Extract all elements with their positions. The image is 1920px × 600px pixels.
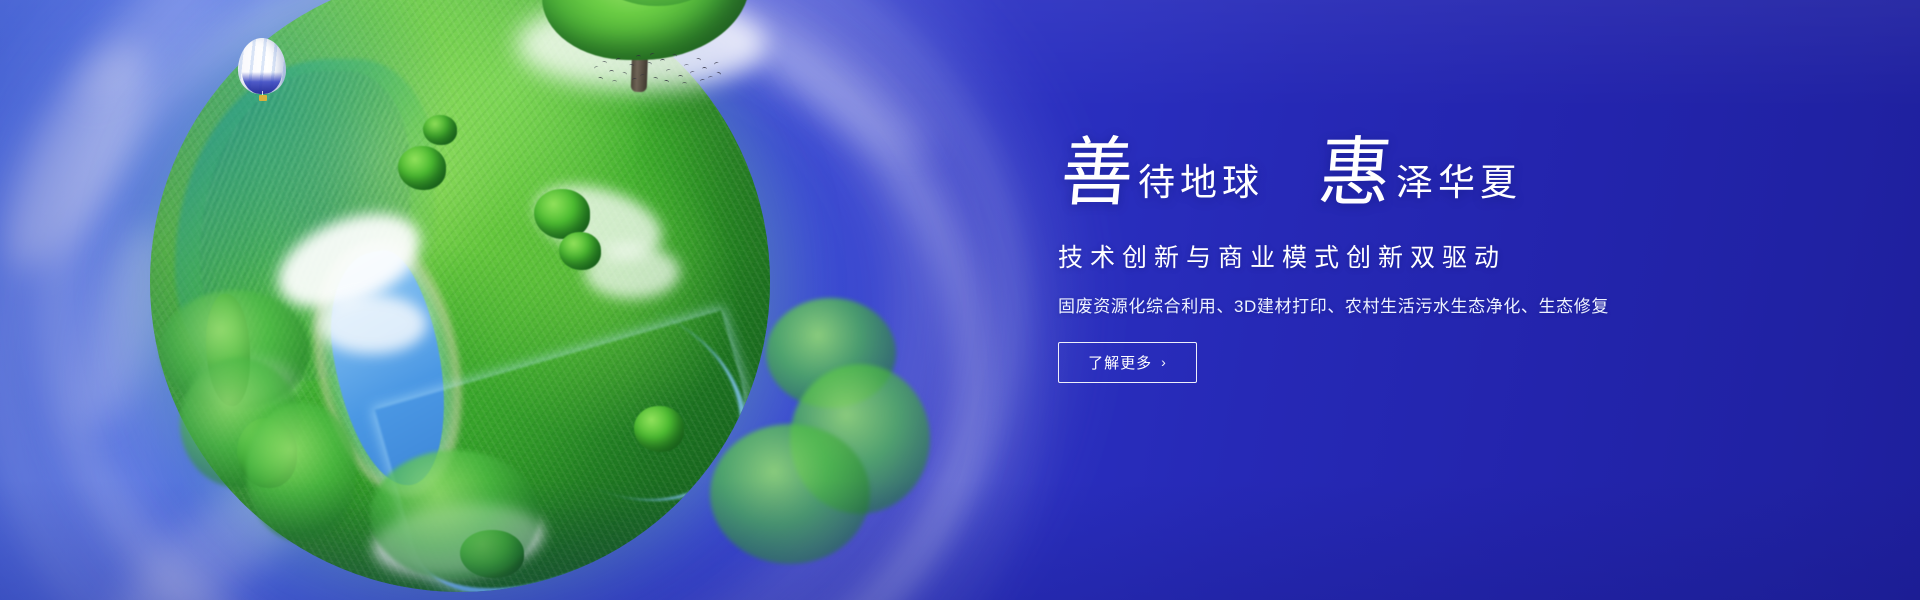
bird-icon	[666, 68, 672, 73]
bird-icon	[700, 78, 706, 83]
bird-icon	[653, 77, 659, 82]
hero-subtitle: 技术创新与商业模式创新双驱动	[1058, 238, 1818, 274]
tree-clump-2	[423, 115, 457, 145]
hero-banner: 善 待地球 惠 泽华夏 技术创新与商业模式创新双驱动 固废资源化综合利用、3D建…	[0, 0, 1920, 600]
bird-icon	[632, 78, 638, 83]
bird-icon	[702, 67, 707, 71]
hero-copy-block: 善 待地球 惠 泽华夏 技术创新与商业模式创新双驱动 固废资源化综合利用、3D建…	[1058, 138, 1818, 383]
rim-tree-7	[370, 450, 540, 580]
learn-more-button[interactable]: 了解更多 ›	[1058, 342, 1197, 383]
bird-icon	[593, 65, 599, 71]
bird-icon	[660, 59, 665, 63]
headline-rest-zehuaxia: 泽华夏	[1396, 164, 1522, 201]
bird-icon	[636, 55, 641, 59]
bird-icon	[621, 71, 627, 77]
bird-icon	[649, 52, 655, 58]
bird-icon	[609, 70, 614, 74]
headline-char-shan: 善	[1058, 134, 1137, 210]
bird-flock-icon	[592, 52, 722, 88]
chevron-right-icon: ›	[1161, 355, 1167, 369]
tree-clump-7	[634, 406, 684, 452]
bird-icon	[696, 57, 702, 62]
rim-tree-6	[710, 424, 870, 564]
hero-description: 固废资源化综合利用、3D建材打印、农村生活污水生态净化、生态修复	[1058, 292, 1818, 317]
bird-icon	[602, 61, 608, 66]
bird-icon	[629, 64, 635, 69]
balloon-basket	[259, 95, 267, 101]
bird-icon	[612, 80, 617, 84]
bird-icon	[689, 70, 695, 75]
hot-air-balloon-icon	[238, 38, 286, 100]
bird-icon	[713, 61, 719, 67]
bird-icon	[646, 61, 652, 67]
tree-clump-1	[398, 146, 446, 190]
page-title: 善 待地球 惠 泽华夏	[1058, 138, 1818, 222]
headline-char-hui: 惠	[1316, 134, 1395, 210]
learn-more-label: 了解更多	[1088, 352, 1152, 373]
tree-clump-4	[559, 232, 601, 270]
headline-rest-daiqiu: 待地球	[1138, 164, 1264, 201]
bird-icon	[640, 73, 646, 78]
bird-icon	[715, 71, 721, 77]
bird-icon	[671, 53, 677, 58]
bird-icon	[616, 57, 622, 62]
bird-icon	[684, 64, 689, 69]
bird-icon	[678, 75, 683, 80]
bird-icon	[682, 82, 687, 86]
bird-icon	[708, 76, 714, 81]
rim-tree-3	[246, 402, 356, 542]
bird-icon	[598, 76, 604, 81]
bird-icon	[664, 79, 670, 84]
